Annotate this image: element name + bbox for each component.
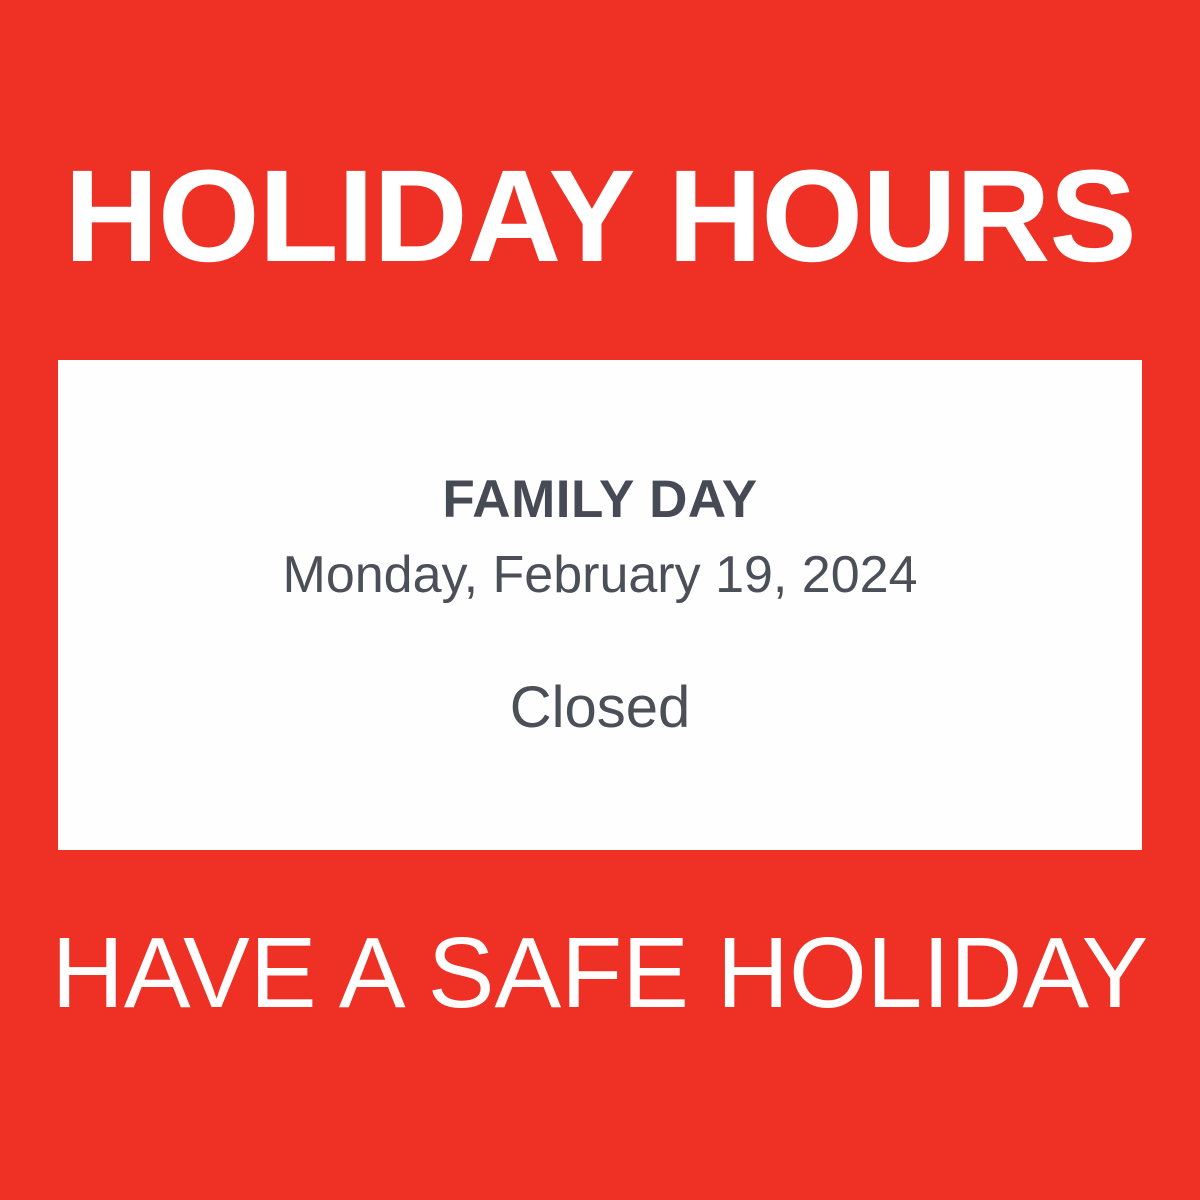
page-title: HOLIDAY HOURS [0,150,1200,280]
holiday-date: Monday, February 19, 2024 [283,546,918,606]
closing-tagline: HAVE A SAFE HOLIDAY [0,918,1200,1028]
holiday-name: FAMILY DAY [442,471,757,528]
holiday-hours-poster: HOLIDAY HOURS FAMILY DAY Monday, Februar… [0,0,1200,1200]
holiday-info-card: FAMILY DAY Monday, February 19, 2024 Clo… [58,360,1142,850]
holiday-info-card-content: FAMILY DAY Monday, February 19, 2024 Clo… [98,471,1102,740]
status-badge: Closed [510,676,691,740]
